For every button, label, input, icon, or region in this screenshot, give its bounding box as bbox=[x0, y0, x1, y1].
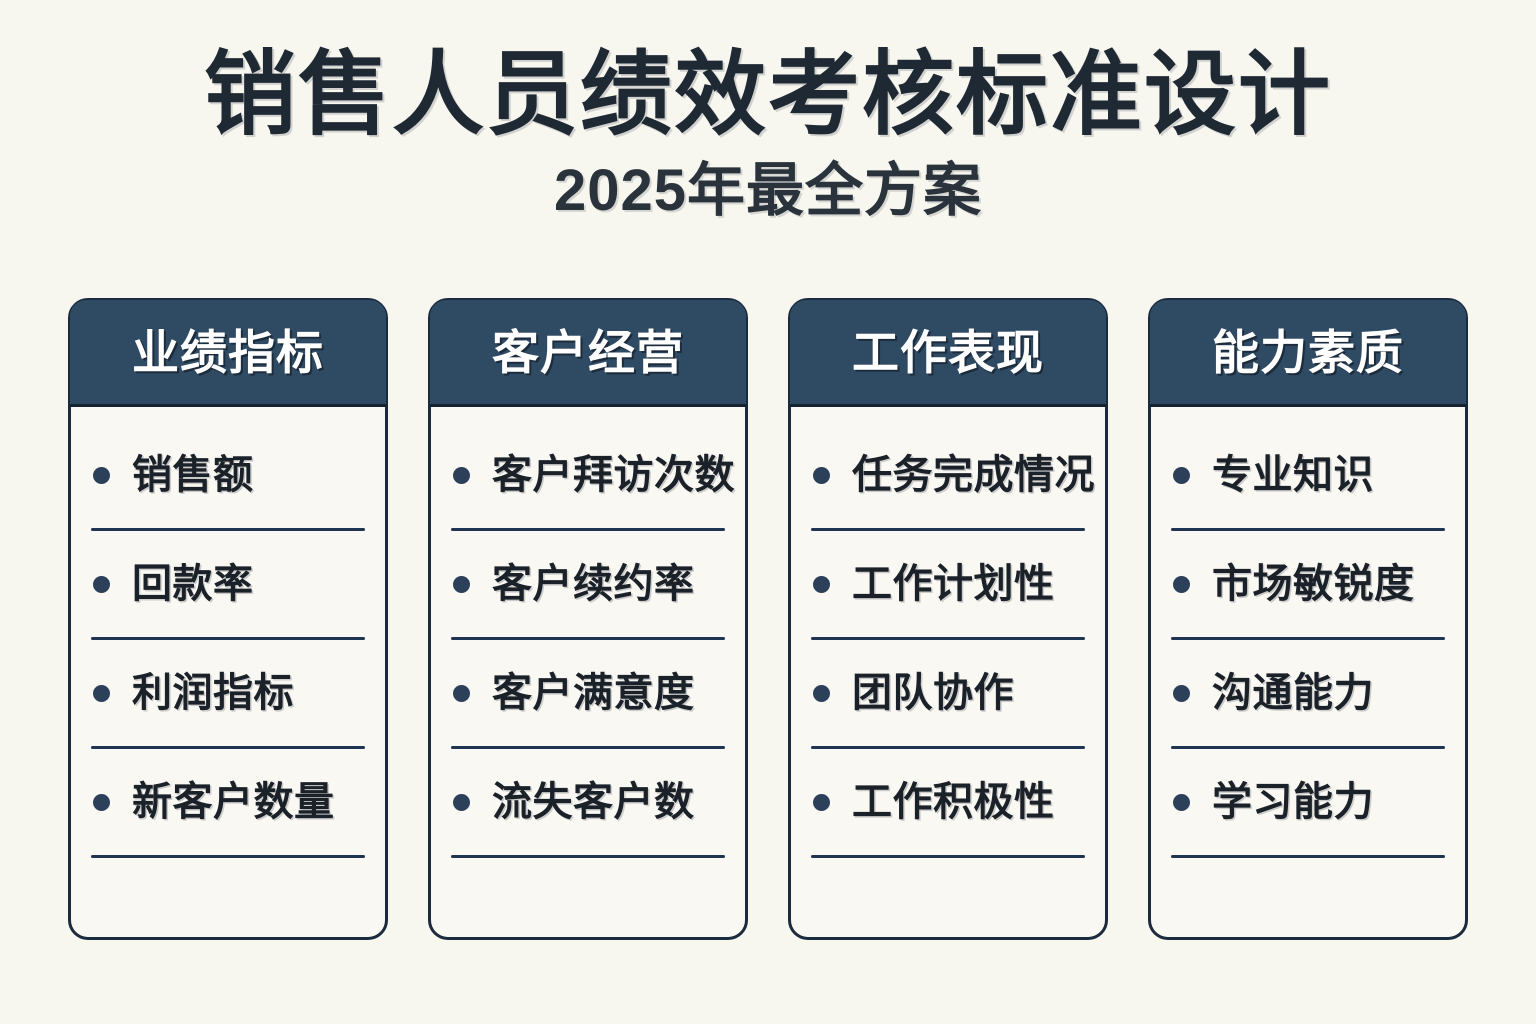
list-item[interactable]: 流失客户数 bbox=[447, 768, 729, 836]
divider bbox=[91, 746, 365, 749]
divider bbox=[1171, 855, 1445, 858]
card-body-3: 任务完成情况 工作计划性 团队协作 工作积极性 bbox=[791, 407, 1105, 937]
bullet-icon bbox=[453, 576, 470, 593]
title-block: 销售人员绩效考核标准设计 2025年最全方案 bbox=[0, 46, 1536, 223]
divider bbox=[91, 855, 365, 858]
card-header-1: 业绩指标 bbox=[70, 300, 386, 407]
divider bbox=[811, 746, 1085, 749]
card-header-3: 工作表现 bbox=[790, 300, 1106, 407]
list-item-label: 工作计划性 bbox=[852, 564, 1055, 604]
list-item[interactable]: 客户续约率 bbox=[447, 550, 729, 618]
list-item-label: 市场敏锐度 bbox=[1212, 564, 1415, 604]
list-item-label: 新客户数量 bbox=[132, 782, 335, 822]
list-item-label: 工作积极性 bbox=[852, 782, 1055, 822]
bullet-icon bbox=[93, 685, 110, 702]
list-item[interactable]: 新客户数量 bbox=[87, 768, 369, 836]
bullet-icon bbox=[1173, 467, 1190, 484]
list-item-label: 任务完成情况 bbox=[852, 455, 1095, 495]
card-body-2: 客户拜访次数 客户续约率 客户满意度 流失客户数 bbox=[431, 407, 745, 937]
infographic-page: 销售人员绩效考核标准设计 2025年最全方案 业绩指标 销售额 回款率 bbox=[0, 0, 1536, 1024]
list-item[interactable]: 专业知识 bbox=[1167, 441, 1449, 509]
list-item[interactable]: 客户拜访次数 bbox=[447, 441, 729, 509]
list-item[interactable]: 市场敏锐度 bbox=[1167, 550, 1449, 618]
bullet-icon bbox=[813, 467, 830, 484]
card-title-4: 能力素质 bbox=[1212, 329, 1404, 376]
list-item-label: 利润指标 bbox=[132, 673, 294, 713]
card-title-3: 工作表现 bbox=[852, 329, 1044, 376]
card-body-4: 专业知识 市场敏锐度 沟通能力 学习能力 bbox=[1151, 407, 1465, 937]
list-item[interactable]: 工作计划性 bbox=[807, 550, 1089, 618]
card-header-2: 客户经营 bbox=[430, 300, 746, 407]
divider bbox=[1171, 746, 1445, 749]
divider bbox=[91, 528, 365, 531]
card-title-2: 客户经营 bbox=[492, 329, 684, 376]
divider bbox=[811, 637, 1085, 640]
list-item[interactable]: 销售额 bbox=[87, 441, 369, 509]
list-item-label: 客户拜访次数 bbox=[492, 455, 735, 495]
list-item[interactable]: 客户满意度 bbox=[447, 659, 729, 727]
list-item[interactable]: 回款率 bbox=[87, 550, 369, 618]
list-item[interactable]: 任务完成情况 bbox=[807, 441, 1089, 509]
divider bbox=[811, 528, 1085, 531]
page-title: 销售人员绩效考核标准设计 bbox=[0, 46, 1536, 145]
divider bbox=[451, 637, 725, 640]
bullet-icon bbox=[453, 794, 470, 811]
bullet-icon bbox=[813, 685, 830, 702]
list-item-label: 学习能力 bbox=[1212, 782, 1374, 822]
category-card-4[interactable]: 能力素质 专业知识 市场敏锐度 沟通能力 bbox=[1148, 298, 1468, 940]
list-item[interactable]: 利润指标 bbox=[87, 659, 369, 727]
list-item-label: 客户续约率 bbox=[492, 564, 695, 604]
card-header-4: 能力素质 bbox=[1150, 300, 1466, 407]
category-card-3[interactable]: 工作表现 任务完成情况 工作计划性 团队协作 bbox=[788, 298, 1108, 940]
bullet-icon bbox=[453, 467, 470, 484]
divider bbox=[1171, 637, 1445, 640]
divider bbox=[451, 855, 725, 858]
bullet-icon bbox=[93, 794, 110, 811]
divider bbox=[1171, 528, 1445, 531]
bullet-icon bbox=[93, 576, 110, 593]
list-item[interactable]: 沟通能力 bbox=[1167, 659, 1449, 727]
list-item-label: 销售额 bbox=[132, 455, 254, 495]
list-item-label: 专业知识 bbox=[1212, 455, 1374, 495]
list-item-label: 回款率 bbox=[132, 564, 254, 604]
bullet-icon bbox=[1173, 685, 1190, 702]
category-card-1[interactable]: 业绩指标 销售额 回款率 利润指标 bbox=[68, 298, 388, 940]
list-item[interactable]: 工作积极性 bbox=[807, 768, 1089, 836]
divider bbox=[451, 746, 725, 749]
divider bbox=[451, 528, 725, 531]
list-item-label: 客户满意度 bbox=[492, 673, 695, 713]
bullet-icon bbox=[813, 576, 830, 593]
divider bbox=[91, 637, 365, 640]
bullet-icon bbox=[1173, 576, 1190, 593]
list-item-label: 团队协作 bbox=[852, 673, 1014, 713]
list-item[interactable]: 团队协作 bbox=[807, 659, 1089, 727]
category-cards-row: 业绩指标 销售额 回款率 利润指标 bbox=[68, 298, 1468, 940]
list-item-label: 流失客户数 bbox=[492, 782, 695, 822]
divider bbox=[811, 855, 1085, 858]
bullet-icon bbox=[453, 685, 470, 702]
card-title-1: 业绩指标 bbox=[132, 329, 324, 376]
page-subtitle: 2025年最全方案 bbox=[0, 159, 1536, 223]
list-item-label: 沟通能力 bbox=[1212, 673, 1374, 713]
card-body-1: 销售额 回款率 利润指标 新客户数量 bbox=[71, 407, 385, 937]
bullet-icon bbox=[93, 467, 110, 484]
bullet-icon bbox=[1173, 794, 1190, 811]
bullet-icon bbox=[813, 794, 830, 811]
category-card-2[interactable]: 客户经营 客户拜访次数 客户续约率 客户满意度 bbox=[428, 298, 748, 940]
list-item[interactable]: 学习能力 bbox=[1167, 768, 1449, 836]
